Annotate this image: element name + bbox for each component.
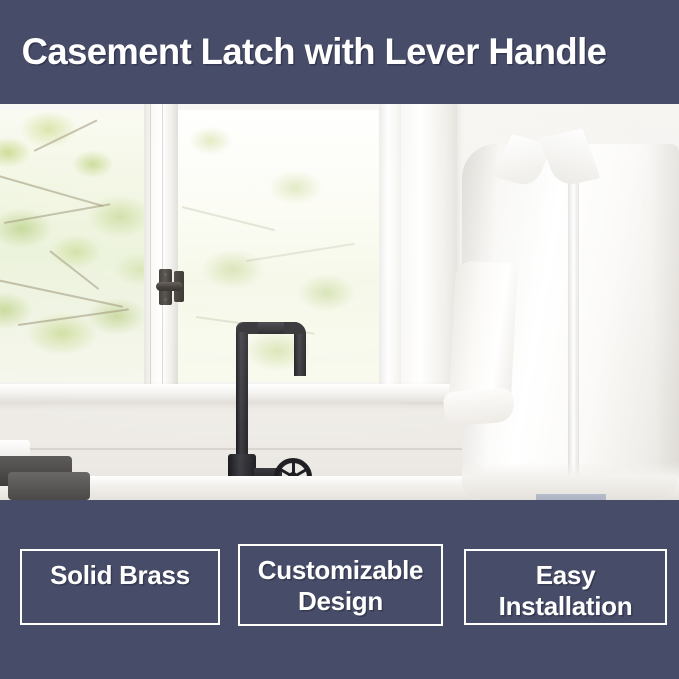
faucet-spout — [294, 334, 306, 376]
latch-lever-handle — [156, 282, 183, 291]
mullion-reveal-line — [162, 104, 163, 388]
feature-bar: Solid Brass Customizable Design Easy Ins… — [0, 500, 679, 679]
latch-screw — [164, 273, 167, 276]
feature-label: Solid Brass — [50, 560, 190, 623]
shirt-placket — [568, 178, 579, 490]
window-assembly — [0, 104, 401, 388]
product-photo — [0, 104, 679, 500]
header-banner: Casement Latch with Lever Handle — [0, 0, 679, 104]
white-shirt — [440, 122, 679, 500]
faucet-riser — [236, 332, 248, 456]
window-mullion — [144, 104, 178, 388]
feature-label: Customizable Design — [258, 555, 423, 624]
feature-box-solid-brass: Solid Brass — [20, 549, 220, 625]
window-jamb — [379, 104, 401, 388]
bridge-faucet — [228, 316, 328, 500]
feature-box-customizable-design: Customizable Design — [238, 544, 443, 626]
feature-label: Easy Installation — [499, 560, 633, 623]
mullion-reveal-line — [150, 104, 151, 388]
shirt-cuff — [443, 388, 515, 427]
window-left-pane — [0, 110, 144, 382]
latch-screw — [164, 298, 167, 301]
tree-foliage — [0, 110, 144, 382]
folded-gray-towel — [8, 472, 90, 500]
casement-latch — [155, 269, 187, 305]
feature-box-easy-installation: Easy Installation — [464, 549, 667, 625]
product-infographic: Casement Latch with Lever Handle — [0, 0, 679, 679]
page-title: Casement Latch with Lever Handle — [0, 33, 606, 72]
